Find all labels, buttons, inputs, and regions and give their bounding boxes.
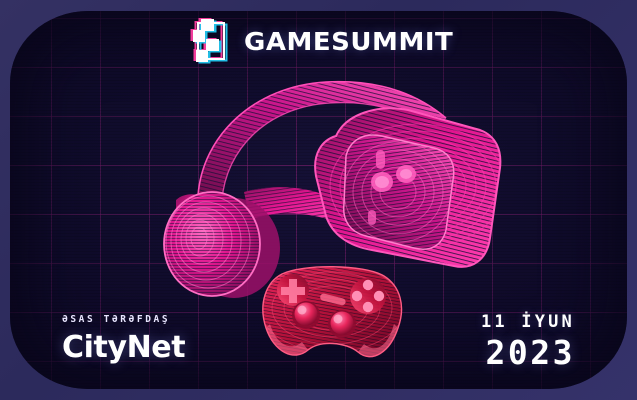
event-poster: GAMESUMMIT <box>0 0 637 400</box>
gamepad-illustration <box>248 252 418 377</box>
partner-block: ƏSAS TƏRƏFDAŞ CityNet <box>62 314 185 365</box>
gamesummit-glitch-s-logo-icon <box>192 19 230 63</box>
event-date-year: 2023 <box>481 333 575 372</box>
logo-white-layer <box>192 19 230 63</box>
poster-content: GAMESUMMIT <box>0 0 637 400</box>
event-date-day: 11 İYUN <box>481 312 575 332</box>
header: GAMESUMMIT <box>0 18 637 64</box>
brand-wordmark: GAMESUMMIT <box>244 27 453 56</box>
partner-name: CityNet <box>62 330 185 365</box>
event-date-block: 11 İYUN 2023 <box>481 312 575 372</box>
gamepad-face-buttons <box>350 278 386 314</box>
partner-label: ƏSAS TƏRƏFDAŞ <box>62 314 185 325</box>
